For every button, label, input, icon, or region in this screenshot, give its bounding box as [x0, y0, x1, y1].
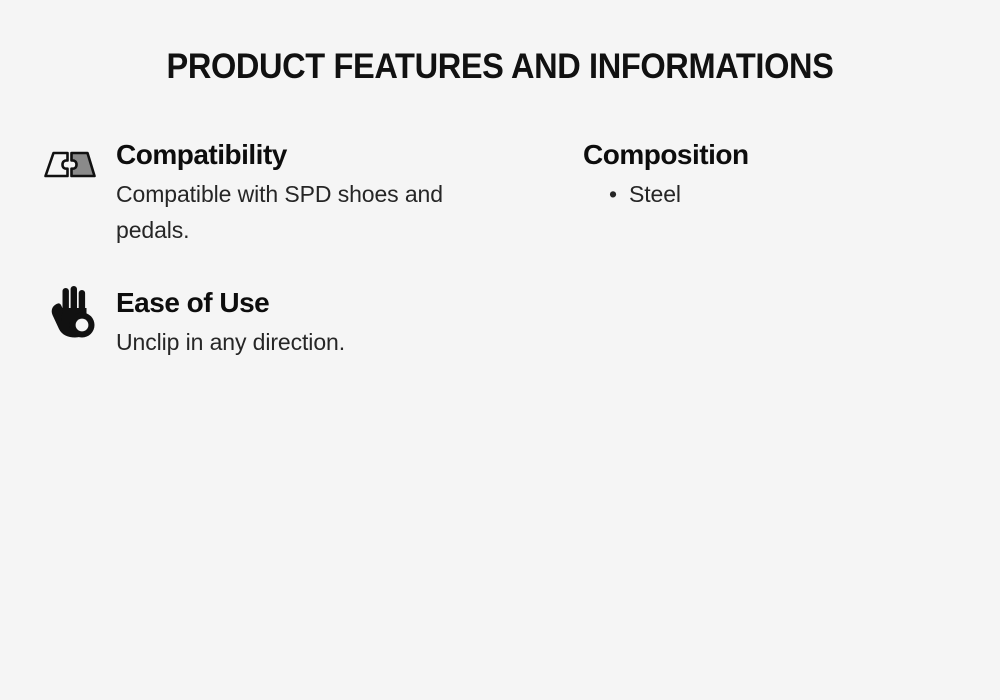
feature-description: Compatible with SPD shoes and pedals. [116, 176, 516, 248]
feature-item: Compatibility Compatible with SPD shoes … [36, 138, 556, 248]
feature-text: Compatibility Compatible with SPD shoes … [116, 138, 556, 248]
spec-list: • Steel [583, 176, 963, 212]
features-column-left: Compatibility Compatible with SPD shoes … [36, 138, 556, 382]
feature-text: Ease of Use Unclip in any direction. [116, 286, 556, 360]
ok-hand-icon [46, 286, 96, 338]
feature-title: Compatibility [116, 138, 556, 172]
spec-list-item-label: Steel [629, 181, 681, 207]
feature-description: Unclip in any direction. [116, 324, 516, 360]
product-features-panel: PRODUCT FEATURES AND INFORMATIONS Compat… [0, 0, 1000, 700]
spec-group: Composition • Steel [583, 138, 963, 212]
feature-item: Ease of Use Unclip in any direction. [36, 286, 556, 382]
spec-list-item: • Steel [609, 176, 963, 212]
feature-title: Ease of Use [116, 286, 556, 320]
cleat-puzzle-icon [42, 144, 100, 188]
bullet-icon: • [609, 176, 617, 212]
spec-title: Composition [583, 138, 963, 172]
specs-column-right: Composition • Steel [583, 138, 963, 212]
page-title: PRODUCT FEATURES AND INFORMATIONS [35, 46, 965, 88]
